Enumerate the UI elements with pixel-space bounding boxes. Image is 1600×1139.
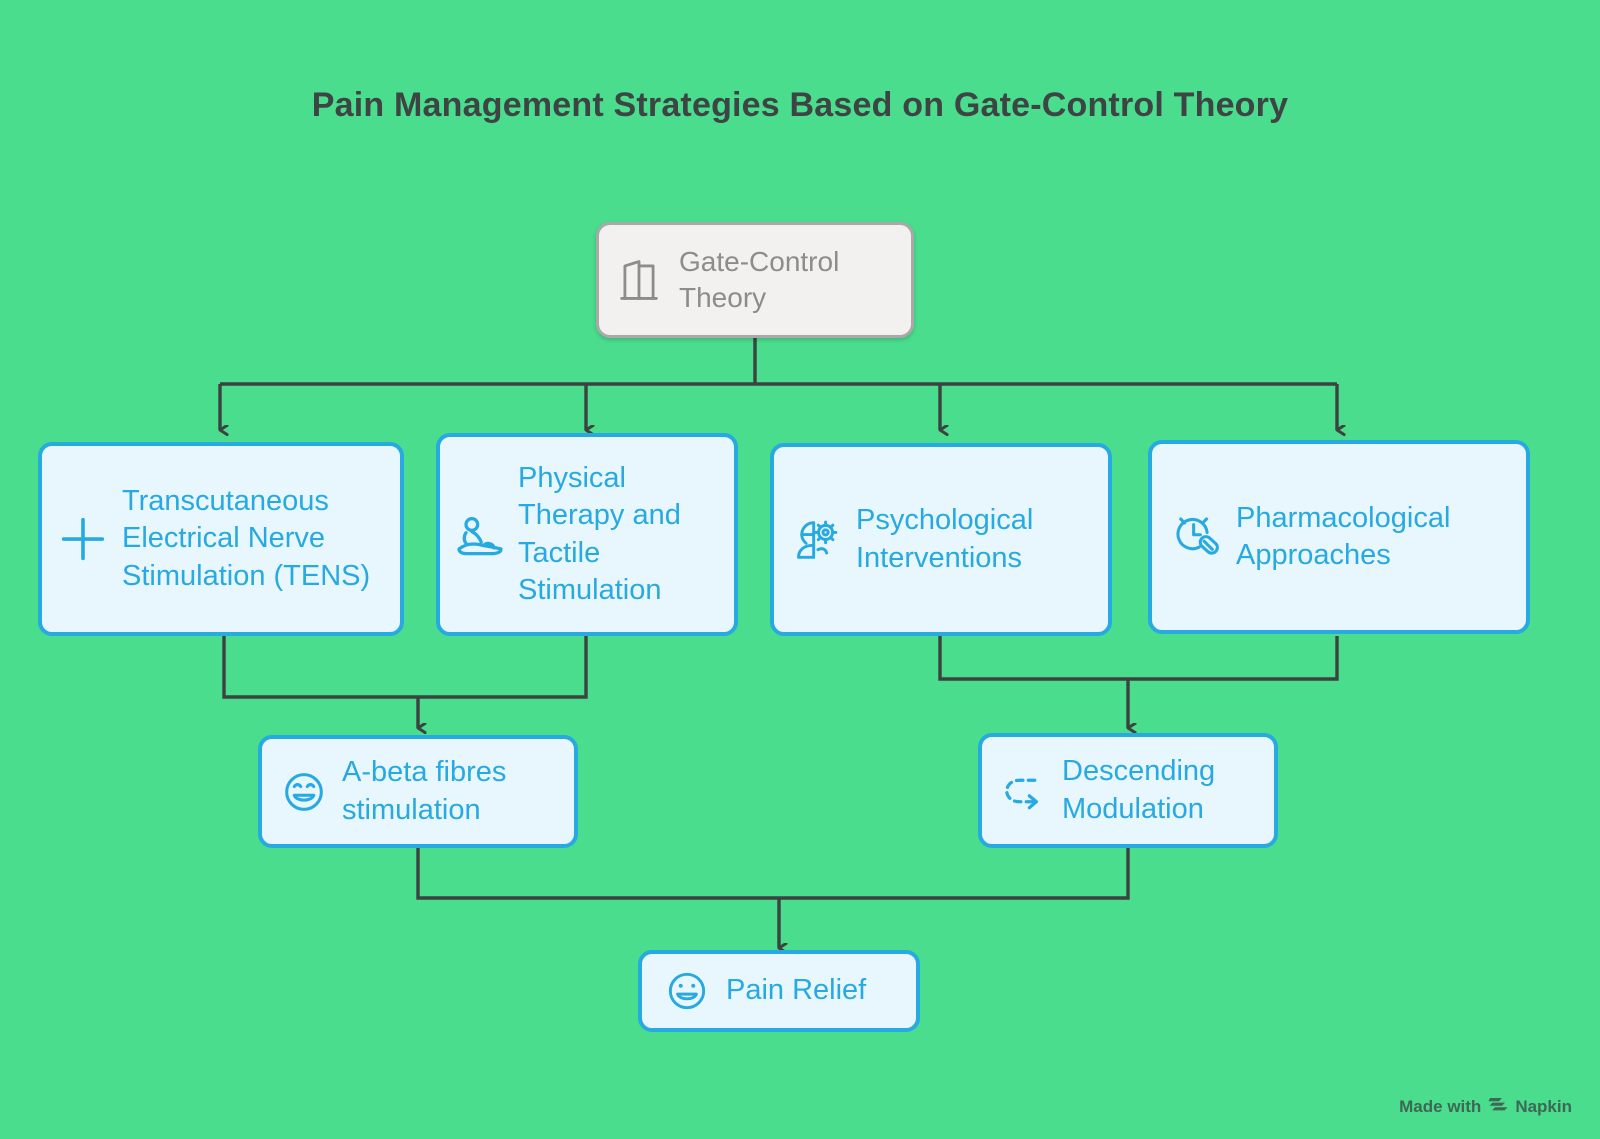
watermark-prefix: Made with — [1399, 1097, 1481, 1117]
edge-merge-bottom — [418, 848, 1128, 898]
node-physical-therapy[interactable]: Physical Therapy and Tactile Stimulation — [436, 433, 738, 636]
plus-icon — [54, 510, 112, 568]
door-gate-icon — [613, 254, 665, 306]
node-gate-control-theory[interactable]: Gate-Control Theory — [596, 222, 914, 338]
node-tens[interactable]: Transcutaneous Electrical Nerve Stimulat… — [38, 442, 404, 636]
node-label: Psychological Interventions — [856, 502, 1094, 576]
node-pain-relief[interactable]: Pain Relief — [638, 950, 920, 1032]
node-psychological-interventions[interactable]: Psychological Interventions — [770, 443, 1112, 636]
page-title: Pain Management Strategies Based on Gate… — [0, 86, 1600, 125]
edge-merge-left — [224, 636, 586, 697]
head-gear-icon — [792, 514, 844, 566]
node-pharmacological-approaches[interactable]: Pharmacological Approaches — [1148, 440, 1530, 634]
watermark-brand: Napkin — [1515, 1097, 1572, 1117]
u-turn-dashed-arrow-icon — [996, 765, 1052, 817]
node-label: Pharmacological Approaches — [1236, 500, 1512, 574]
diagram-canvas: Pain Management Strategies Based on Gate… — [0, 0, 1600, 1139]
node-descending-modulation[interactable]: Descending Modulation — [978, 733, 1278, 848]
clock-pill-icon — [1170, 510, 1224, 564]
node-label: Gate-Control Theory — [679, 244, 893, 316]
node-label: Pain Relief — [726, 972, 898, 1009]
napkin-watermark: Made with Napkin — [1399, 1096, 1572, 1117]
smiley-face-icon — [662, 966, 712, 1016]
node-label: Descending Modulation — [1062, 753, 1260, 827]
node-a-beta-fibres[interactable]: A-beta fibres stimulation — [258, 735, 578, 848]
napkin-logo-icon — [1488, 1096, 1508, 1117]
node-label: Physical Therapy and Tactile Stimulation — [518, 460, 722, 608]
node-label: A-beta fibres stimulation — [342, 754, 560, 828]
edge-merge-right — [940, 636, 1337, 679]
node-label: Transcutaneous Electrical Nerve Stimulat… — [122, 483, 386, 594]
smiley-face-icon — [278, 766, 330, 818]
massage-therapy-icon — [452, 507, 508, 563]
